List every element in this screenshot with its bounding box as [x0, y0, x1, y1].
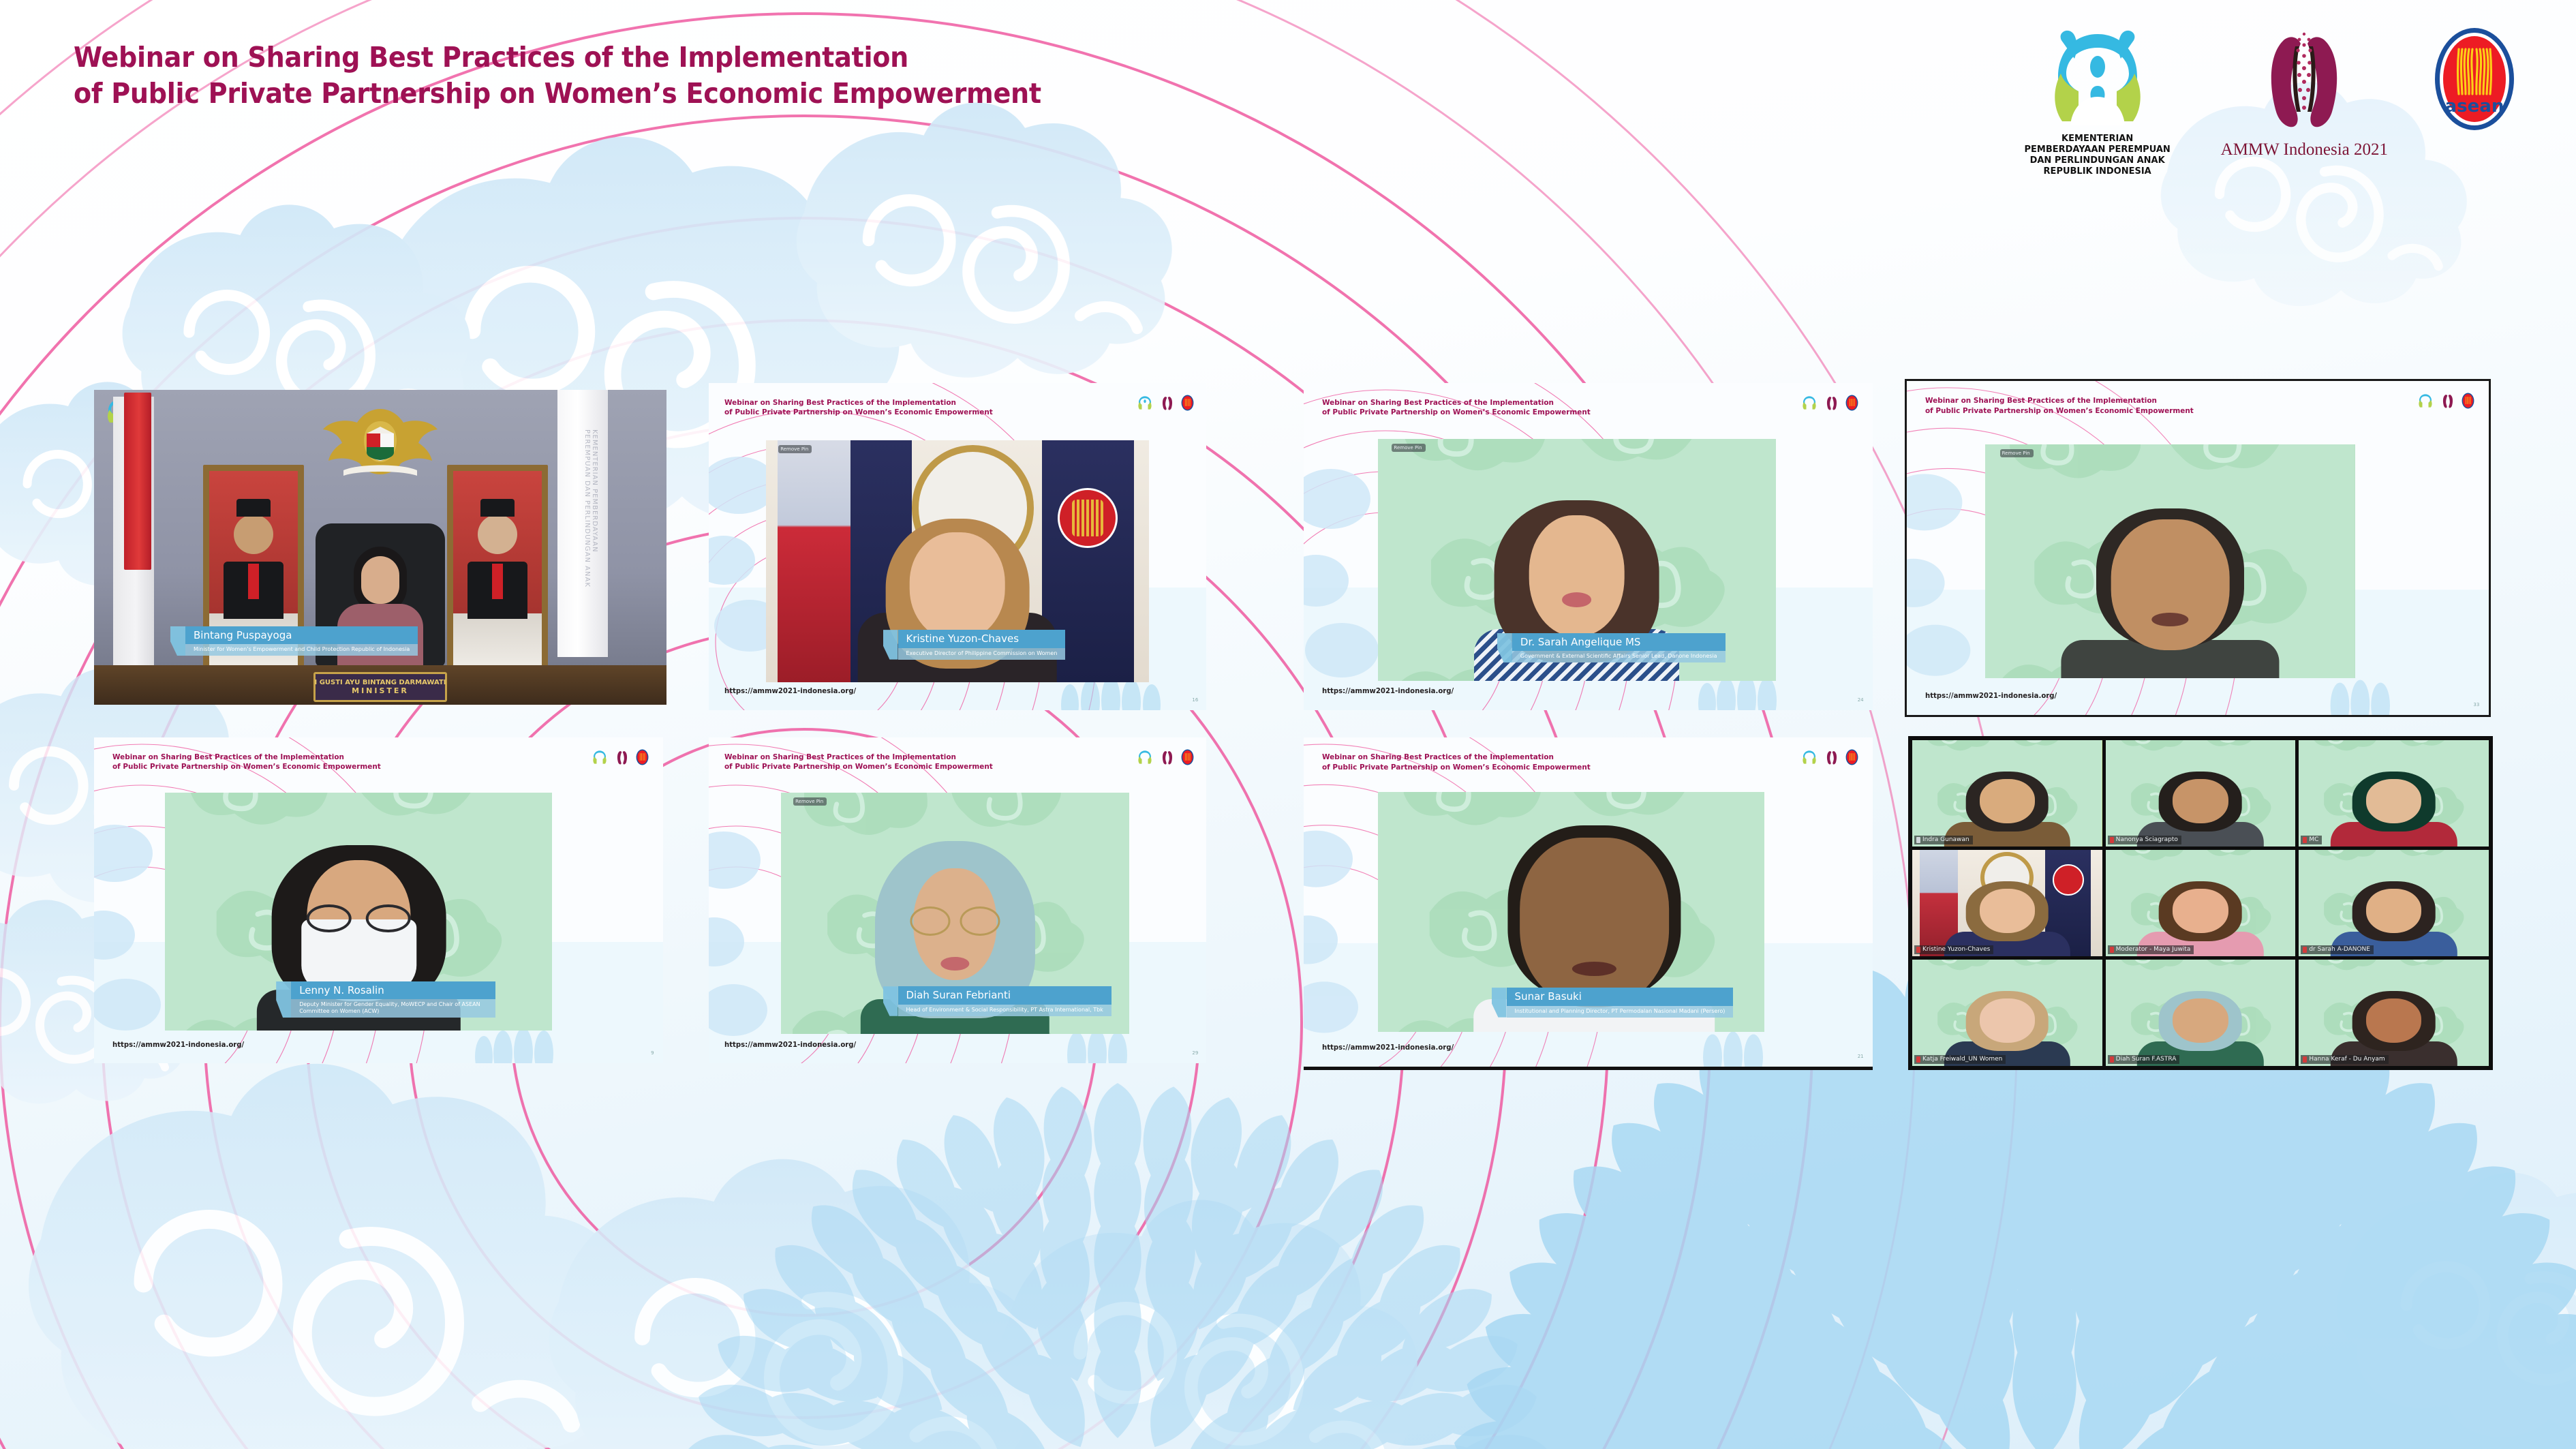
- slide-frame-2: Webinar on Sharing Best Practices of the…: [709, 383, 1206, 710]
- remove-pin-button[interactable]: Remove Pin: [2000, 449, 2034, 457]
- video-tile-diah-suran-febrianti[interactable]: Webinar on Sharing Best Practices of the…: [709, 737, 1206, 1063]
- ammw-mini-icon: [1160, 749, 1175, 766]
- participant-name-text: Hanna Keraf - Du Anyam: [2309, 1056, 2385, 1063]
- participant-name-text: Diah Suran F.ASTRA: [2116, 1056, 2177, 1063]
- slide-page-number-3: 24: [1858, 697, 1864, 703]
- slide-url-5: https://ammw2021-indonesia.org/: [112, 1040, 244, 1049]
- slide-page-number-5: 9: [651, 1050, 654, 1056]
- eyeglasses-right: [366, 904, 410, 932]
- participant-figure-3: [1485, 497, 1668, 681]
- gallery-cell[interactable]: Nanonya Sciagrapto: [2106, 740, 2296, 846]
- participant-name-text: Moderator - Maya Juwita: [2116, 946, 2191, 953]
- participant-name-text: Katja Freiwald_UN Women: [1922, 1056, 2002, 1063]
- participant-figure-4: [2078, 505, 2263, 678]
- slide-page-number-7: 21: [1858, 1054, 1864, 1059]
- remove-pin-button[interactable]: Remove Pin: [778, 445, 812, 453]
- slide-url-3: https://ammw2021-indonesia.org/: [1322, 686, 1454, 695]
- svg-text:asean: asean: [2445, 96, 2504, 117]
- video-tile-kristine-yuzon-chaves[interactable]: Webinar on Sharing Best Practices of the…: [709, 383, 1206, 710]
- slide-title-3: Webinar on Sharing Best Practices of the…: [1322, 398, 1591, 418]
- title-line-1: Webinar on Sharing Best Practices of the…: [74, 40, 1183, 76]
- microphone-muted-icon: [1916, 1056, 1920, 1063]
- gallery-cell[interactable]: Diah Suran F.ASTRA: [2106, 960, 2296, 1066]
- video-tile-lenny-rosalin[interactable]: Webinar on Sharing Best Practices of the…: [94, 737, 663, 1063]
- slide-title-7: Webinar on Sharing Best Practices of the…: [1322, 752, 1591, 773]
- logo-row: KEMENTERIAN PEMBERDAYAAN PEREMPUAN DAN P…: [2019, 26, 2516, 177]
- gallery-cell[interactable]: Moderator - Maya Juwita: [2106, 850, 2296, 956]
- gallery-cell[interactable]: Hanna Keraf - Du Anyam: [2299, 960, 2489, 1066]
- kemenpppa-mini-icon: [2417, 393, 2434, 409]
- garuda-emblem-icon: [319, 398, 442, 487]
- slide-title-2: Webinar on Sharing Best Practices of the…: [724, 398, 993, 418]
- slide-url-7: https://ammw2021-indonesia.org/: [1322, 1043, 1454, 1052]
- slide-title-line-1: Webinar on Sharing Best Practices of the…: [1925, 396, 2194, 406]
- video-frame-2: [766, 440, 1149, 682]
- gallery-cell[interactable]: Kristine Yuzon-Chaves: [1912, 850, 2102, 956]
- slide-title-line-2: of Public Private Partnership on Women’s…: [1925, 406, 2194, 416]
- slide-title-line-1: Webinar on Sharing Best Practices of the…: [1322, 398, 1591, 408]
- slide-page-number-2: 16: [1192, 697, 1198, 703]
- video-frame-6: [781, 793, 1129, 1034]
- microphone-muted-icon: [2303, 1056, 2307, 1063]
- banner-tab: [170, 626, 185, 656]
- participant-name-label: Diah Suran F.ASTRA: [2108, 1055, 2180, 1064]
- nameplate-text: I GUSTI AYU BINTANG DARMAWATI: [315, 679, 446, 686]
- participant-name-label: Hanna Keraf - Du Anyam: [2301, 1055, 2388, 1064]
- ministry-flag: KEMENTERIAN PEMBERDAYAAN PEREMPUAN DAN P…: [557, 390, 608, 657]
- title-line-2: of Public Private Partnership on Women’s…: [74, 76, 1183, 112]
- participant-figure-7: [1494, 825, 1695, 1032]
- caption-line-3: REPUBLIK INDONESIA: [2019, 166, 2176, 177]
- kemenpppa-mini-icon: [1136, 749, 1154, 765]
- asean-mini-icon: [1181, 395, 1194, 411]
- slide-title-4: Webinar on Sharing Best Practices of the…: [1925, 396, 2194, 416]
- ammw-logo-block: AMMW Indonesia 2021: [2221, 26, 2388, 159]
- kemenpppa-caption: KEMENTERIAN PEMBERDAYAAN PEREMPUAN DAN P…: [2019, 134, 2176, 177]
- video-gallery-3x3[interactable]: Indra GunawanNanonya SciagraptoMCKristin…: [1908, 736, 2493, 1070]
- slide-page-number-6: 29: [1192, 1050, 1198, 1056]
- vice-president-portrait-frame: [447, 465, 548, 675]
- participant-figure: [2344, 770, 2443, 846]
- kemenpppa-logo-icon: [2040, 26, 2155, 129]
- speaker-figure: [337, 547, 423, 667]
- kemenpppa-mini-icon: [591, 749, 609, 765]
- slide-page-number-4: 33: [2473, 702, 2479, 707]
- slide-title-line-2: of Public Private Partnership on Women’s…: [724, 762, 993, 772]
- participant-name-text: dr Sarah A-DANONE: [2309, 946, 2370, 953]
- slide-logo-row-5: [591, 749, 649, 766]
- ammw-mini-icon: [615, 749, 630, 766]
- asean-mini-icon: [636, 749, 649, 765]
- microphone-muted-icon: [2110, 947, 2114, 953]
- slide-url-4: https://ammw2021-indonesia.org/: [1925, 691, 2057, 700]
- slide-frame-7: Webinar on Sharing Best Practices of the…: [1304, 737, 1873, 1070]
- gallery-cell[interactable]: Indra Gunawan: [1912, 740, 2102, 846]
- participant-name-text: Kristine Yuzon-Chaves: [1922, 946, 1990, 953]
- slide-title-line-1: Webinar on Sharing Best Practices of the…: [1322, 752, 1591, 763]
- participant-name-label: Katja Freiwald_UN Women: [1914, 1055, 2006, 1064]
- eyeglasses-left: [910, 906, 951, 935]
- video-tile-bintang-puspayoga[interactable]: KEMENTERIAN PEMBERDAYAAN PEREMPUAN DAN P…: [94, 390, 666, 705]
- gallery-cell[interactable]: dr Sarah A-DANONE: [2299, 850, 2489, 956]
- video-frame-7: [1378, 792, 1765, 1033]
- indonesia-flag: [124, 393, 151, 570]
- slide-title-line-1: Webinar on Sharing Best Practices of the…: [112, 752, 381, 763]
- slide-title-line-2: of Public Private Partnership on Women’s…: [112, 762, 381, 772]
- ammw-mini-icon: [1824, 395, 1839, 412]
- slide-title-5: Webinar on Sharing Best Practices of the…: [112, 752, 381, 773]
- participant-name-label: Indra Gunawan: [1914, 836, 1973, 844]
- eyeglasses-right: [960, 906, 1000, 935]
- participant-figure-2: [858, 508, 1057, 682]
- participant-name-text: Nanonya Sciagrapto: [2116, 836, 2178, 843]
- participant-name-label: dr Sarah A-DANONE: [2301, 945, 2374, 954]
- remove-pin-button[interactable]: Remove Pin: [1392, 444, 1425, 452]
- asean-logo-block: asean: [2433, 26, 2516, 132]
- gallery-cell[interactable]: Katja Freiwald_UN Women: [1912, 960, 2102, 1066]
- participant-figure-5: [266, 845, 452, 1031]
- asean-logo-icon: asean: [2433, 26, 2516, 132]
- participant-name-label: Moderator - Maya Juwita: [2108, 945, 2194, 954]
- kemenpppa-mini-icon: [1800, 395, 1818, 411]
- microphone-muted-icon: [2110, 1056, 2114, 1063]
- philippines-flag: [778, 440, 862, 682]
- asean-mini-icon: [2462, 393, 2474, 409]
- video-frame-4: [1985, 444, 2355, 678]
- page-title: Webinar on Sharing Best Practices of the…: [74, 40, 1266, 112]
- ammw-mini-icon: [2440, 393, 2455, 410]
- ammw-mini-icon: [1160, 395, 1175, 412]
- ammw-logo-icon: [2253, 26, 2355, 135]
- participant-name-label: MC: [2301, 836, 2322, 844]
- microphone-muted-icon: [2303, 947, 2307, 953]
- caption-line-1: KEMENTERIAN: [2019, 134, 2176, 144]
- slide-logo-row-2: [1136, 395, 1194, 412]
- gallery-cell[interactable]: MC: [2299, 740, 2489, 846]
- video-tile-unnamed-speaker[interactable]: Webinar on Sharing Best Practices of the…: [1905, 379, 2491, 717]
- slide-frame-3: Webinar on Sharing Best Practices of the…: [1304, 383, 1873, 710]
- slide-title-line-2: of Public Private Partnership on Women’s…: [1322, 408, 1591, 418]
- video-frame-5: [165, 793, 552, 1031]
- slide-frame-5: Webinar on Sharing Best Practices of the…: [94, 737, 663, 1063]
- video-tile-sunar-basuki[interactable]: Webinar on Sharing Best Practices of the…: [1304, 737, 1873, 1070]
- eyeglasses-left: [307, 904, 351, 932]
- participant-figure-6: [875, 841, 1035, 1034]
- decorative-arcs: [0, 0, 2576, 1449]
- president-portrait-frame: [203, 465, 304, 675]
- video-tile-sarah-angelique[interactable]: Webinar on Sharing Best Practices of the…: [1304, 383, 1873, 710]
- slide-logo-row-3: [1800, 395, 1858, 412]
- lotus-fan-ornament: [0, 0, 2576, 1449]
- ammw-caption: AMMW Indonesia 2021: [2221, 140, 2388, 159]
- slide-title-line-1: Webinar on Sharing Best Practices of the…: [724, 398, 993, 408]
- asean-mini-icon: [1845, 395, 1858, 411]
- slide-logo-row-6: [1136, 749, 1194, 766]
- slide-title-6: Webinar on Sharing Best Practices of the…: [724, 752, 993, 773]
- video-frame-3: [1378, 439, 1777, 681]
- slide-logo-row-4: [2417, 393, 2474, 410]
- slide-url-6: https://ammw2021-indonesia.org/: [724, 1040, 856, 1049]
- cloud-motif-background: [0, 0, 2576, 1449]
- slide-title-line-2: of Public Private Partnership on Women’s…: [724, 408, 993, 418]
- screenshot-canvas: Webinar on Sharing Best Practices of the…: [0, 0, 2576, 1449]
- microphone-muted-icon: [2110, 837, 2114, 843]
- slide-logo-row-7: [1800, 749, 1858, 766]
- participant-name-text: MC: [2309, 836, 2318, 843]
- asean-mini-icon: [1845, 749, 1858, 765]
- kemenpppa-mini-icon: [1136, 395, 1154, 411]
- slide-title-line-1: Webinar on Sharing Best Practices of the…: [724, 752, 993, 763]
- nameplate-subtext: MINISTER: [352, 686, 409, 695]
- microphone-muted-icon: [2303, 837, 2307, 843]
- slide-frame-6: Webinar on Sharing Best Practices of the…: [709, 737, 1206, 1063]
- slide-title-line-2: of Public Private Partnership on Women’s…: [1322, 763, 1591, 773]
- participant-name-label: Kristine Yuzon-Chaves: [1914, 945, 1993, 954]
- slide-frame-4: Webinar on Sharing Best Practices of the…: [1905, 379, 2491, 717]
- ammw-mini-icon: [1824, 749, 1839, 766]
- slide-url-2: https://ammw2021-indonesia.org/: [724, 686, 856, 695]
- caption-line-2: PEMBERDAYAAN PEREMPUAN DAN PERLINDUNGAN …: [2019, 144, 2176, 166]
- kemenpppa-logo-block: KEMENTERIAN PEMBERDAYAAN PEREMPUAN DAN P…: [2019, 26, 2176, 177]
- nameplate: I GUSTI AYU BINTANG DARMAWATI MINISTER: [313, 672, 447, 702]
- remove-pin-button[interactable]: Remove Pin: [793, 797, 827, 806]
- kemenpppa-mini-icon: [1800, 749, 1818, 765]
- participant-name-text: Indra Gunawan: [1922, 836, 1969, 843]
- microphone-icon: [1916, 837, 1920, 843]
- asean-mini-icon: [1181, 749, 1194, 765]
- gallery-grid: Indra GunawanNanonya SciagraptoMCKristin…: [1908, 736, 2493, 1070]
- participant-name-label: Nanonya Sciagrapto: [2108, 836, 2181, 844]
- microphone-muted-icon: [1916, 947, 1920, 953]
- face-mask: [301, 919, 416, 1001]
